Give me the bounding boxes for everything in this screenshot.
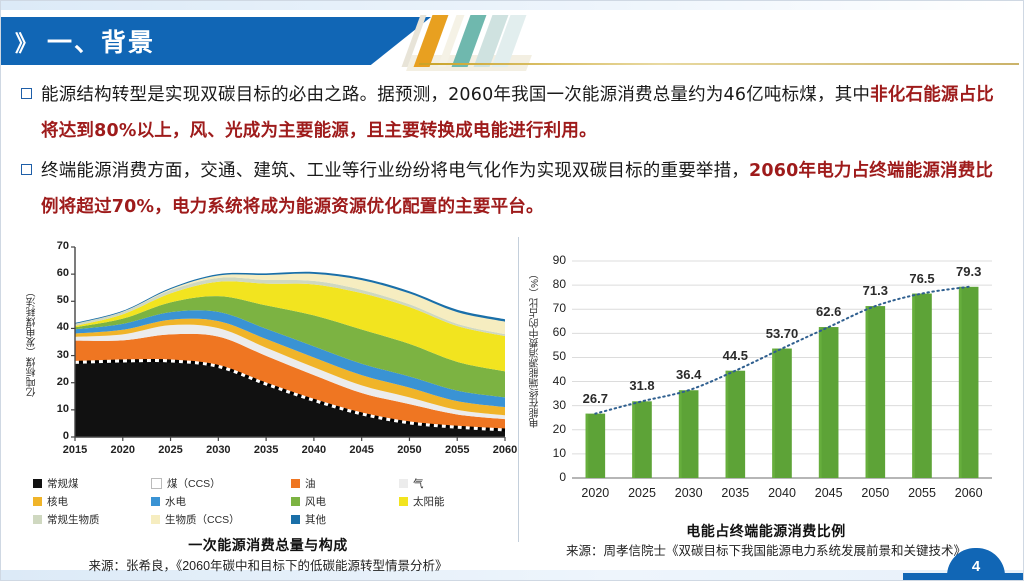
bar-x-tick: 2055 xyxy=(898,486,946,500)
area-x-tick: 2035 xyxy=(244,444,288,456)
area-x-tick: 2040 xyxy=(292,444,336,456)
slide: 》一、背景 能源结构转型是实现双碳目标的必由之路。据预测，2060年我国一次能源… xyxy=(0,0,1024,581)
bullet-item-1: 能源结构转型是实现双碳目标的必由之路。据预测，2060年我国一次能源消费总量约为… xyxy=(21,77,1005,149)
double-chevron-icon: 》 xyxy=(15,26,39,58)
section-banner: 》一、背景 xyxy=(1,17,431,65)
slide-top-edge xyxy=(1,1,1023,10)
bar-chart-source: 来源：周孝信院士《双碳目标下我国能源电力系统发展前景和关键技术》 xyxy=(526,540,1006,559)
legend-swatch-icon xyxy=(399,497,408,506)
bar-chart-title: 电能占终端能源消费比例 xyxy=(526,521,1006,541)
bar-x-tick: 2035 xyxy=(711,486,759,500)
legend-label: 生物质（CCS） xyxy=(165,512,240,527)
bar-y-tick: 10 xyxy=(538,446,566,460)
bullet-list: 能源结构转型是实现双碳目标的必由之路。据预测，2060年我国一次能源消费总量约为… xyxy=(21,77,1005,229)
legend-swatch-icon xyxy=(291,479,300,488)
area-y-tick: 20 xyxy=(41,376,69,388)
bar-data-label: 53.70 xyxy=(754,326,810,341)
legend-item: 其他 xyxy=(291,512,399,527)
area-y-tick: 70 xyxy=(41,240,69,252)
page-number-text: 4 xyxy=(947,548,1005,578)
legend-swatch-icon xyxy=(291,497,300,506)
legend-item: 水电 xyxy=(151,494,291,509)
bullet-square-icon xyxy=(21,164,32,175)
legend-item: 风电 xyxy=(291,494,399,509)
bar-x-tick: 2060 xyxy=(945,486,993,500)
bar-y-tick: 30 xyxy=(538,398,566,412)
legend-item: 常规生物质 xyxy=(33,512,151,527)
bar-x-tick: 2040 xyxy=(758,486,806,500)
bar-y-tick: 50 xyxy=(538,349,566,363)
header-gold-rule xyxy=(419,63,1019,65)
legend-label: 风电 xyxy=(305,494,326,509)
bullet-item-2: 终端能源消费方面，交通、建筑、工业等行业纷纷将电气化作为实现双碳目标的重要举措，… xyxy=(21,153,1005,225)
legend-label: 太阳能 xyxy=(413,494,445,509)
area-y-tick: 50 xyxy=(41,294,69,306)
bar-y-tick: 60 xyxy=(538,325,566,339)
area-y-tick: 0 xyxy=(41,430,69,442)
area-y-tick: 10 xyxy=(41,403,69,415)
area-x-tick: 2030 xyxy=(196,444,240,456)
area-chart-legend: 常规煤煤（CCS）油气核电水电风电太阳能常规生物质生物质（CCS）其他 xyxy=(33,476,511,527)
bullet-square-icon xyxy=(21,88,32,99)
page-title: 》一、背景 xyxy=(15,23,155,59)
legend-item: 生物质（CCS） xyxy=(151,512,291,527)
area-x-tick: 2015 xyxy=(53,444,97,456)
area-y-tick: 30 xyxy=(41,349,69,361)
legend-label: 气 xyxy=(413,476,424,491)
area-x-tick: 2055 xyxy=(435,444,479,456)
legend-item: 气 xyxy=(399,476,509,491)
section-title-text: 一、背景 xyxy=(47,29,155,57)
bar-y-tick: 20 xyxy=(538,422,566,436)
bullet-text-2: 终端能源消费方面，交通、建筑、工业等行业纷纷将电气化作为实现双碳目标的重要举措，… xyxy=(41,153,1005,225)
area-chart-title: 一次能源消费总量与构成 xyxy=(23,535,513,555)
legend-label: 油 xyxy=(305,476,316,491)
charts-area: 亿吨标煤（发电煤耗法） 0102030405060702015202020252… xyxy=(1,239,1024,574)
page-number-badge: 4 xyxy=(947,548,1005,578)
bar-x-tick: 2045 xyxy=(805,486,853,500)
area-chart-source: 来源：张希良，《2060年碳中和目标下的低碳能源转型情景分析》 xyxy=(23,555,513,574)
bar-y-tick: 70 xyxy=(538,301,566,315)
bar-x-tick: 2030 xyxy=(665,486,713,500)
area-chart: 亿吨标煤（发电煤耗法） 0102030405060702015202020252… xyxy=(23,239,513,469)
legend-swatch-icon xyxy=(151,497,160,506)
legend-swatch-icon xyxy=(33,515,42,524)
bar-x-tick: 2050 xyxy=(851,486,899,500)
legend-label: 核电 xyxy=(47,494,68,509)
legend-swatch-icon xyxy=(151,478,162,489)
legend-swatch-icon xyxy=(33,479,42,488)
bullet-text-1: 能源结构转型是实现双碳目标的必由之路。据预测，2060年我国一次能源消费总量约为… xyxy=(41,77,1005,149)
area-x-tick: 2020 xyxy=(101,444,145,456)
legend-label: 其他 xyxy=(305,512,326,527)
legend-item: 常规煤 xyxy=(33,476,151,491)
legend-label: 常规生物质 xyxy=(47,512,100,527)
legend-label: 水电 xyxy=(165,494,186,509)
bar-data-label: 62.6 xyxy=(801,304,857,319)
area-x-tick: 2050 xyxy=(387,444,431,456)
bar-x-tick: 2025 xyxy=(618,486,666,500)
area-y-tick: 40 xyxy=(41,321,69,333)
bar-chart: 电能在终端能源消费中的占比（%） 010203040506070809026.7… xyxy=(526,239,1006,524)
legend-label: 煤（CCS） xyxy=(167,476,221,491)
legend-swatch-icon xyxy=(151,515,160,524)
legend-swatch-icon xyxy=(399,479,408,488)
area-y-tick: 60 xyxy=(41,267,69,279)
bar-y-tick: 80 xyxy=(538,277,566,291)
legend-item: 太阳能 xyxy=(399,494,509,509)
bar-data-label: 36.4 xyxy=(661,367,717,382)
legend-label: 常规煤 xyxy=(47,476,79,491)
bullet-1-part-0: 能源结构转型是实现双碳目标的必由之路。据预测，2060年我国一次能源消费总量约为… xyxy=(41,85,870,105)
area-chart-svg xyxy=(23,239,513,469)
legend-item: 核电 xyxy=(33,494,151,509)
bullet-2-part-0: 终端能源消费方面，交通、建筑、工业等行业纷纷将电气化作为实现双碳目标的重要举措， xyxy=(41,161,749,181)
legend-swatch-icon xyxy=(33,497,42,506)
bar-data-label: 79.3 xyxy=(941,264,997,279)
legend-item: 油 xyxy=(291,476,399,491)
bar-y-tick: 40 xyxy=(538,374,566,388)
legend-swatch-icon xyxy=(291,515,300,524)
bar-data-label: 44.5 xyxy=(707,348,763,363)
area-chart-y-axis-label: 亿吨标煤（发电煤耗法） xyxy=(25,287,40,397)
bar-x-tick: 2020 xyxy=(571,486,619,500)
area-x-tick: 2045 xyxy=(340,444,384,456)
area-x-tick: 2060 xyxy=(483,444,527,456)
area-x-tick: 2025 xyxy=(149,444,193,456)
bar-y-tick: 90 xyxy=(538,253,566,267)
bar-y-tick: 0 xyxy=(538,470,566,484)
legend-item: 煤（CCS） xyxy=(151,476,291,491)
